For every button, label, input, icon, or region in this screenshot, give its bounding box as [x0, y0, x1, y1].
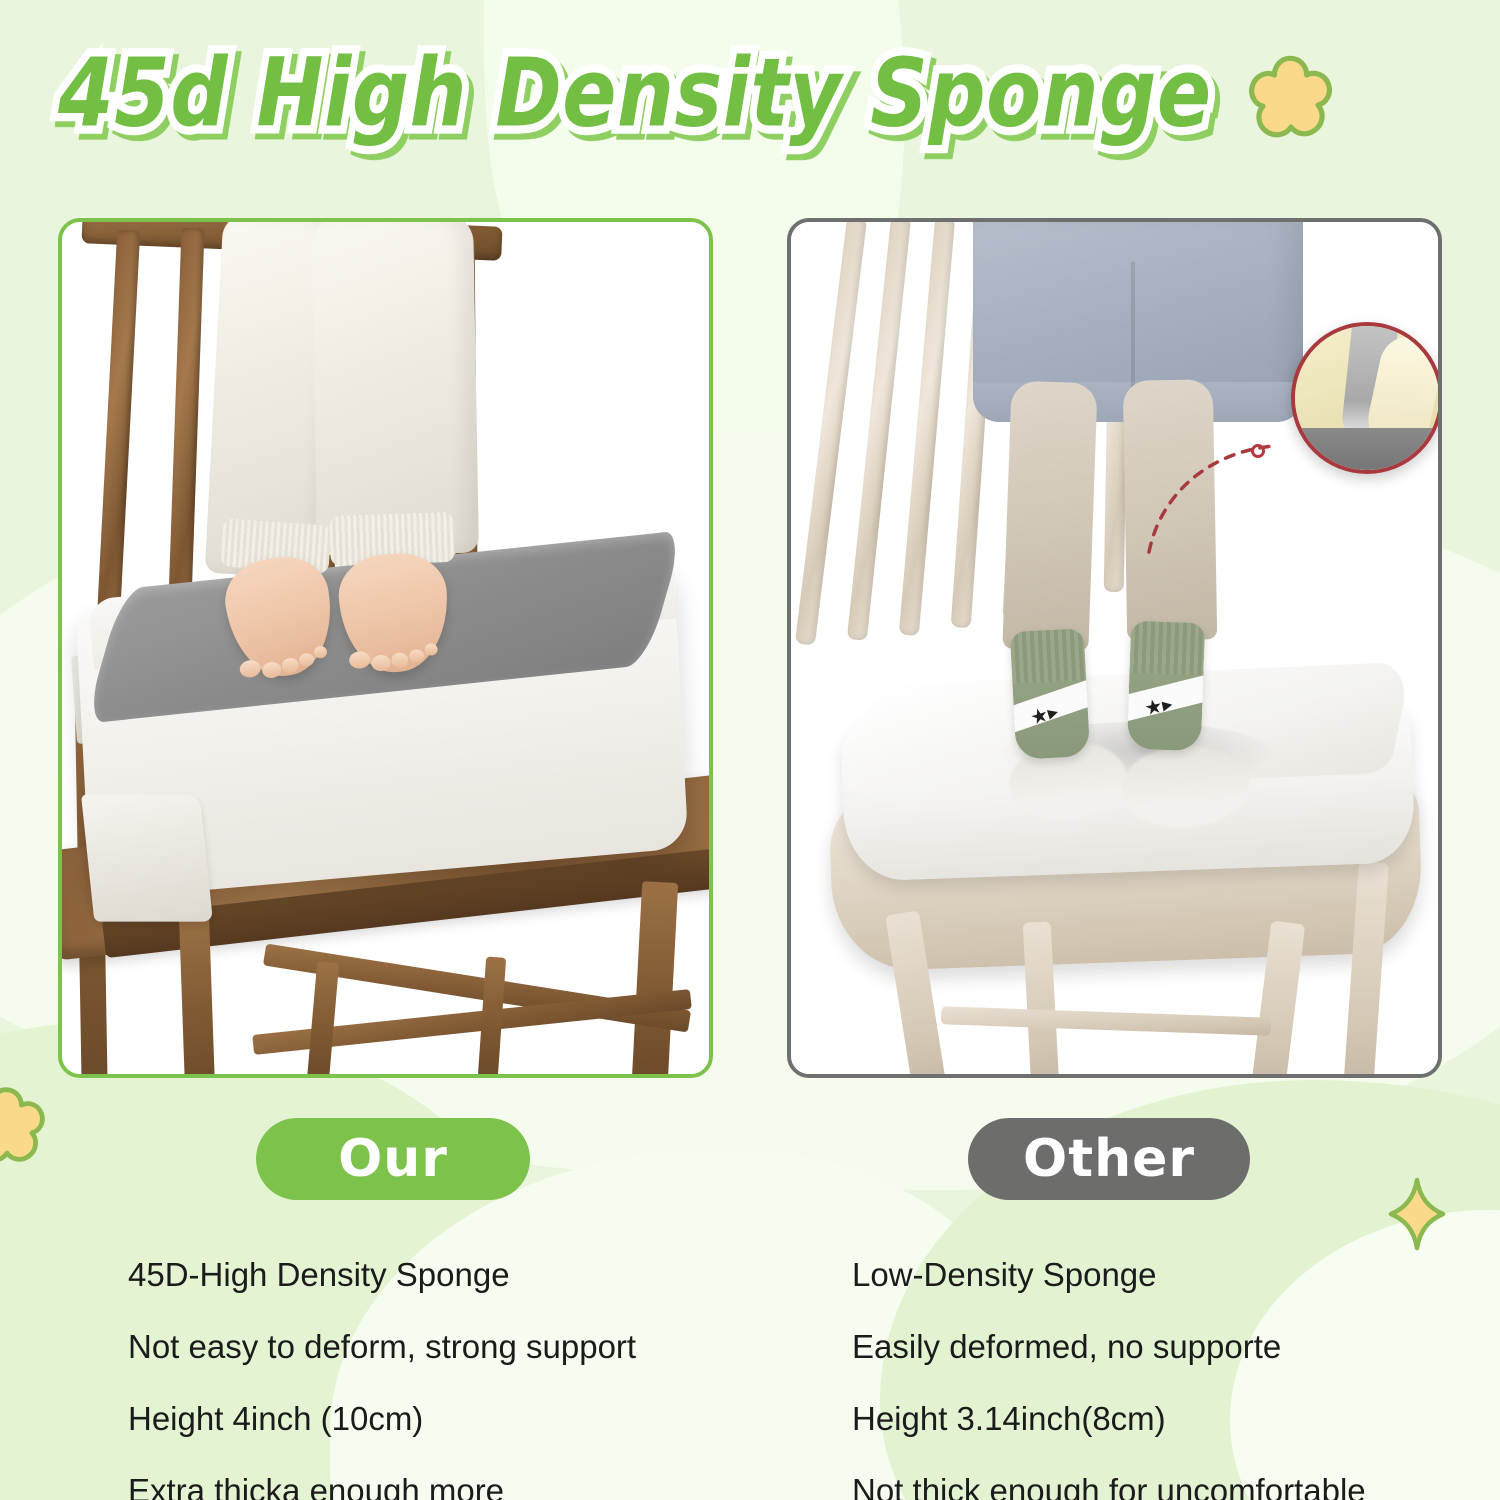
infographic-page: 45d High Density Sponge [0, 0, 1500, 1500]
chair-leg [179, 912, 215, 1074]
feature-item: Not easy to deform, strong support [128, 1310, 768, 1382]
cushion-strap [81, 794, 213, 921]
label-badge-our-text: Our [338, 1129, 448, 1189]
feature-list-other: Low-Density Sponge Easily deformed, no s… [852, 1238, 1492, 1500]
chair-stretcher [307, 961, 339, 1074]
label-badge-other: Other [968, 1118, 1250, 1200]
callout-connector [1141, 432, 1291, 562]
feature-item: Height 4inch (10cm) [128, 1382, 768, 1454]
photo-panel-other: ★▸ ★▸ [787, 218, 1442, 1078]
callout-zoom-circle [1291, 322, 1438, 474]
child-leg [1002, 381, 1097, 652]
feature-item: Low-Density Sponge [852, 1238, 1492, 1310]
flower-icon [1238, 50, 1342, 154]
feature-item: Easily deformed, no supporte [852, 1310, 1492, 1382]
child-sock: ★▸ [1010, 628, 1091, 760]
label-badge-other-text: Other [1023, 1129, 1195, 1189]
feature-item: Height 3.14inch(8cm) [852, 1382, 1492, 1454]
page-title: 45d High Density Sponge [58, 38, 1158, 158]
feature-item: Extra thicka enough more [128, 1454, 768, 1500]
feature-item: 45D-High Density Sponge [128, 1238, 768, 1310]
chair-stretcher [478, 956, 506, 1074]
page-title-text: 45d High Density Sponge [58, 38, 1158, 148]
chair-slat [899, 222, 956, 636]
chair-stretcher [941, 1006, 1271, 1036]
feature-list-our: 45D-High Density Sponge Not easy to defo… [128, 1238, 768, 1500]
label-badge-our: Our [256, 1118, 530, 1200]
callout-base-surface [1291, 428, 1438, 472]
photo-panel-our [58, 218, 713, 1078]
child-sock: ★▸ [1127, 621, 1205, 752]
chair-leg [632, 881, 678, 1074]
feature-item: Not thick enough for uncomfortable [852, 1454, 1492, 1500]
flower-icon [0, 1082, 54, 1178]
child-pant-leg [311, 222, 479, 555]
product-photo-other: ★▸ ★▸ [791, 222, 1438, 1074]
product-photo-our [62, 222, 709, 1074]
callout-anchor-dot [1251, 444, 1265, 458]
